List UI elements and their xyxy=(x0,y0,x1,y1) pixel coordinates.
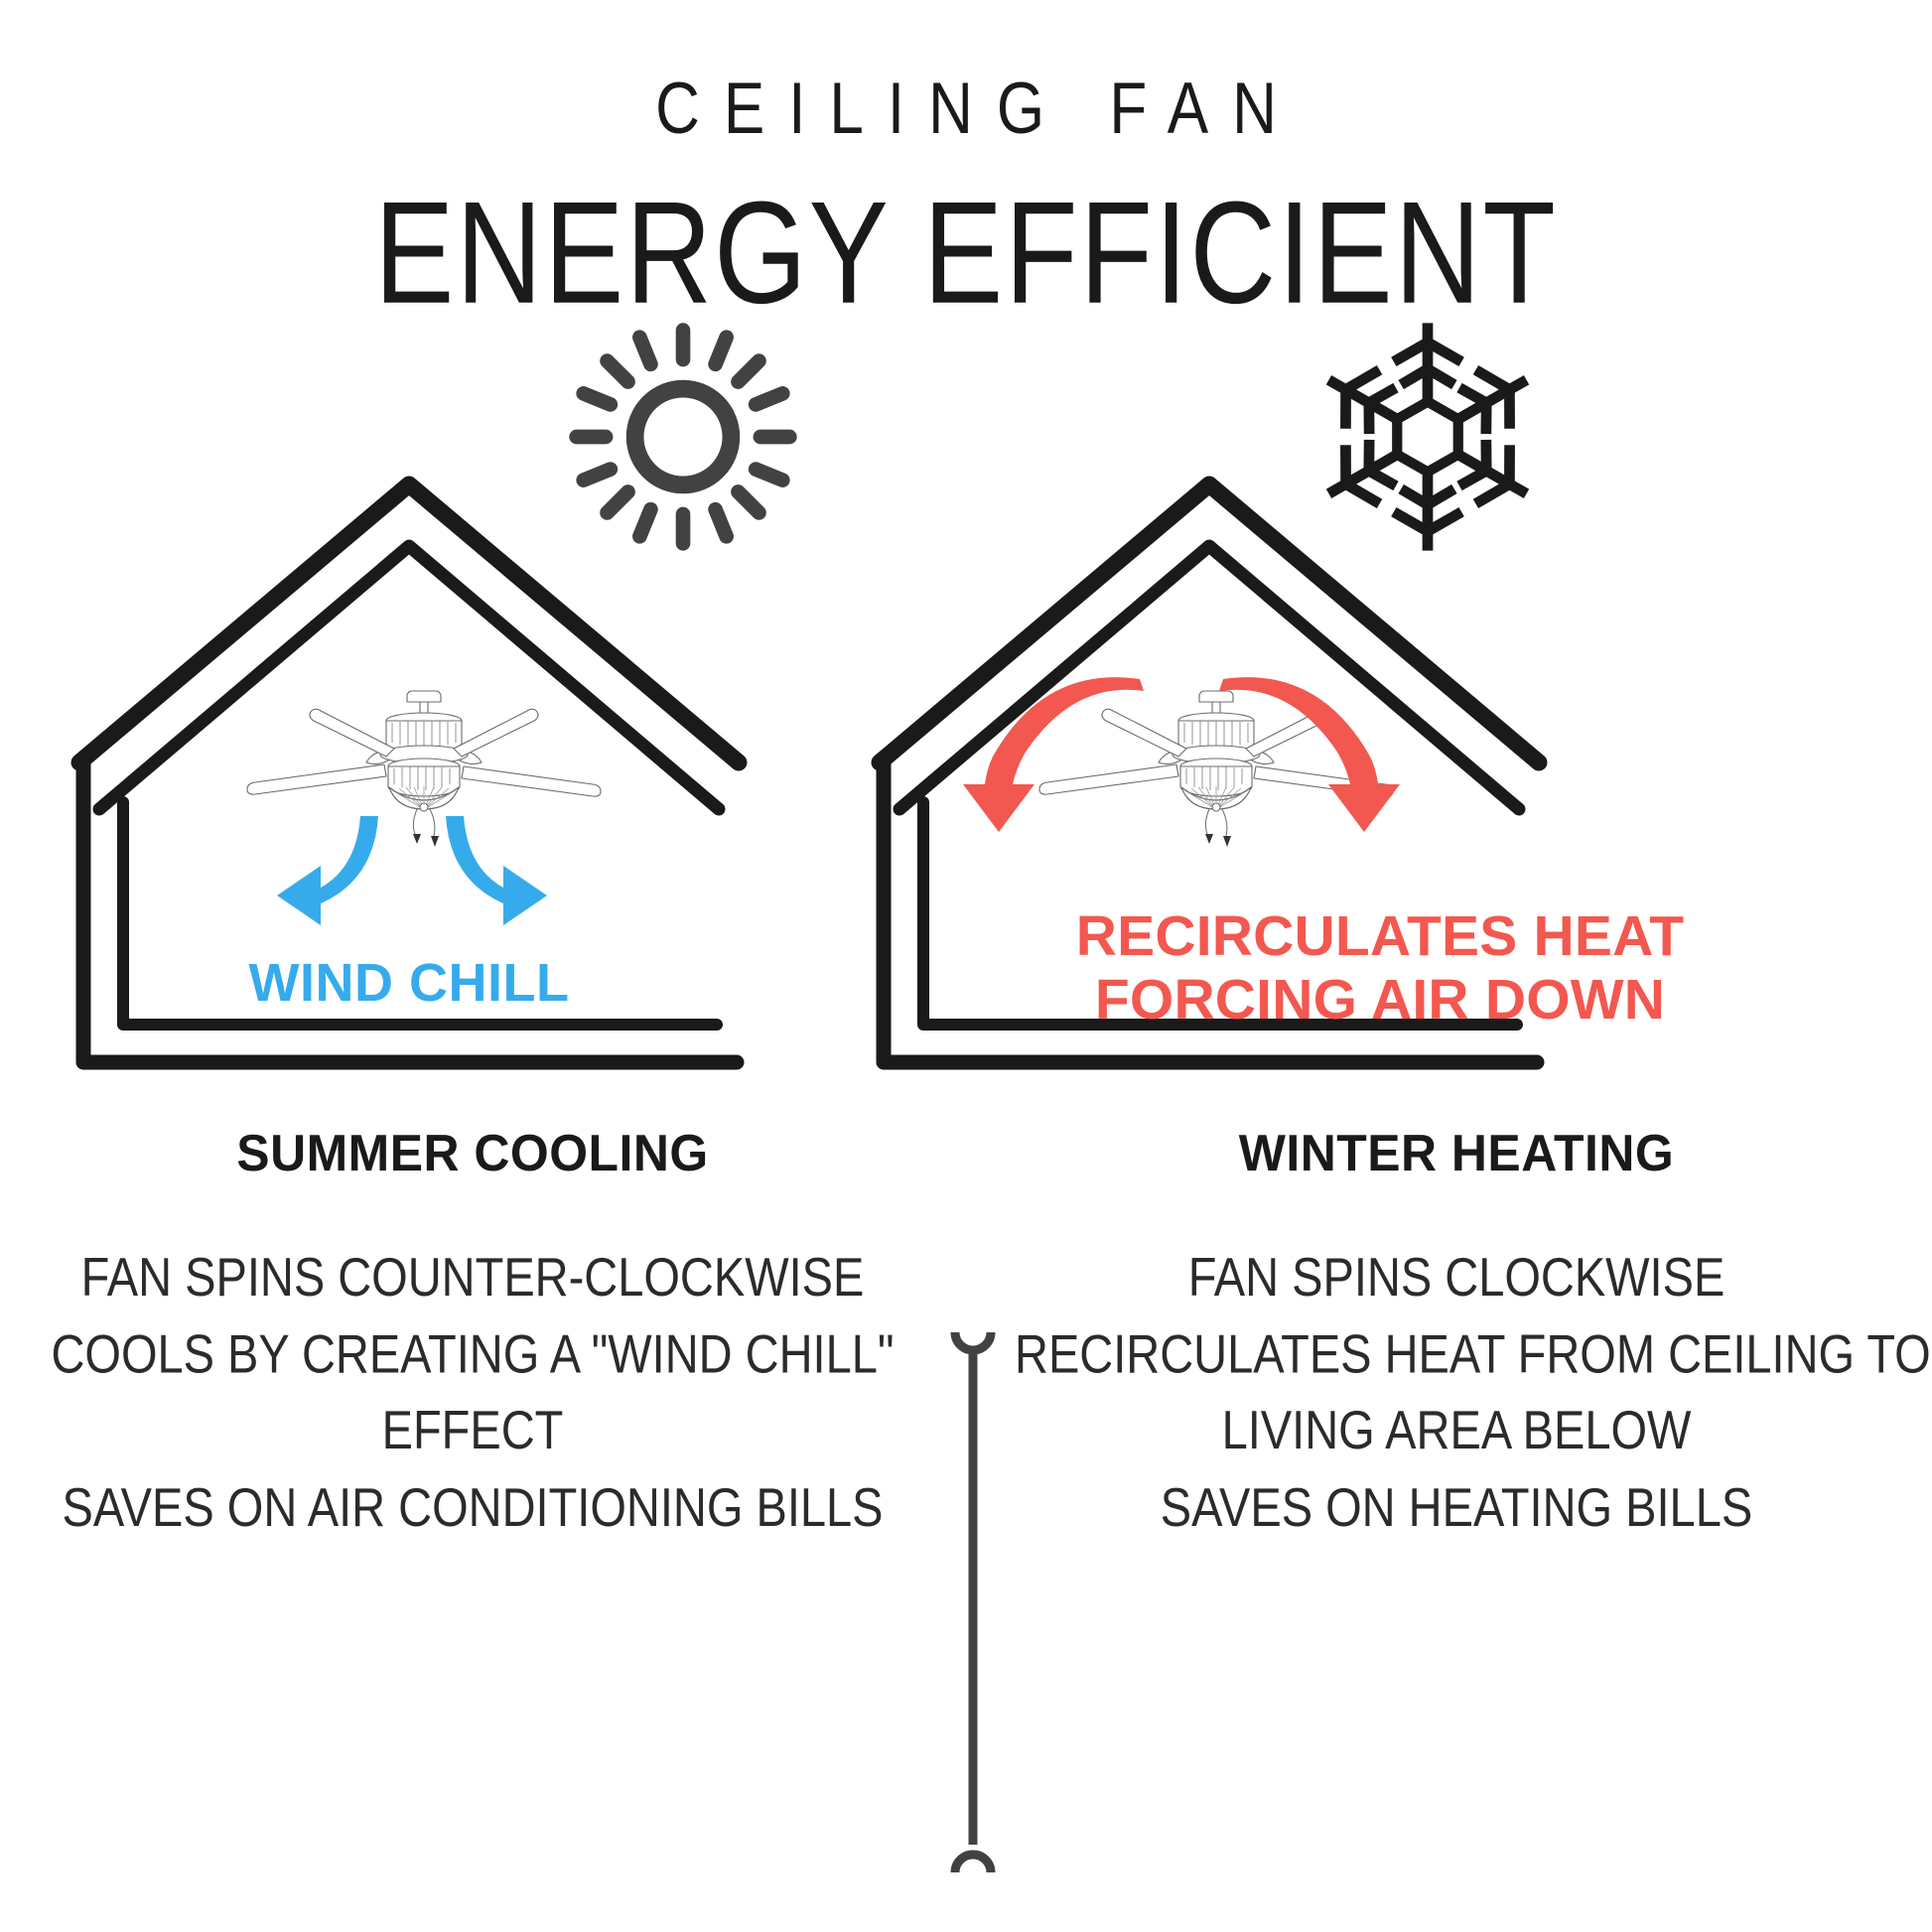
infographic-canvas: CEILING FAN ENERGY EFFICIENT xyxy=(0,0,1932,1932)
column-title: SUMMER COOLING xyxy=(54,1124,893,1183)
column-body: FAN SPINS CLOCKWISE RECIRCULATES HEAT FR… xyxy=(1015,1239,1898,1547)
body-line: FAN SPINS CLOCKWISE xyxy=(1015,1239,1898,1315)
callout-line: WIND CHILL xyxy=(249,953,570,1013)
page-title: ENERGY EFFICIENT xyxy=(29,181,1903,326)
column-winter-heating: WINTER HEATING FAN SPINS CLOCKWISE RECIR… xyxy=(1015,1124,1898,1504)
kicker-title: CEILING FAN xyxy=(0,73,1932,146)
column-title: WINTER HEATING xyxy=(1033,1124,1880,1183)
body-line: EFFECT xyxy=(36,1393,909,1469)
airflow-arrows-summer xyxy=(213,814,611,953)
column-summer-cooling: SUMMER COOLING FAN SPINS COUNTER-CLOCKWI… xyxy=(36,1124,909,1504)
callout-wind-chill: WIND CHILL xyxy=(62,953,757,1013)
body-line: SAVES ON HEATING BILLS xyxy=(1015,1469,1898,1546)
callout-recirculates-heat: RECIRCULATES HEAT FORCING AIR DOWN xyxy=(953,905,1807,1033)
callout-line: RECIRCULATES HEAT xyxy=(953,905,1807,969)
column-body: FAN SPINS COUNTER-CLOCKWISE COOLS BY CRE… xyxy=(36,1239,909,1547)
callout-line: FORCING AIR DOWN xyxy=(953,969,1807,1033)
airflow-arrows-winter xyxy=(933,665,1430,844)
body-line: SAVES ON AIR CONDITIONING BILLS xyxy=(36,1469,909,1546)
vertical-divider-icon xyxy=(923,1320,1023,1896)
body-line: LIVING AREA BELOW xyxy=(1015,1393,1898,1469)
header: CEILING FAN ENERGY EFFICIENT xyxy=(0,0,1932,304)
body-line: FAN SPINS COUNTER-CLOCKWISE xyxy=(36,1239,909,1315)
body-line: RECIRCULATES HEAT FROM CEILING TO xyxy=(1015,1315,1898,1392)
body-line: COOLS BY CREATING A "WIND CHILL" xyxy=(36,1315,909,1392)
